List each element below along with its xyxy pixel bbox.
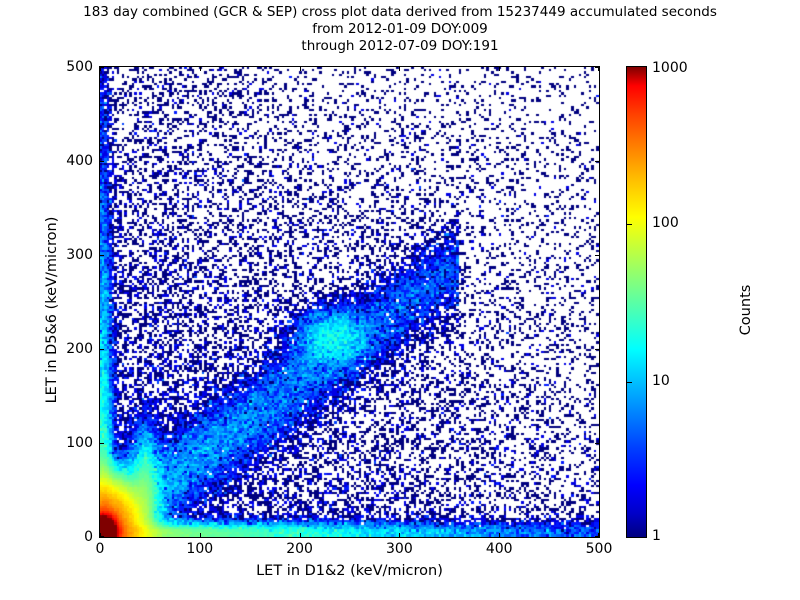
y-tick-mark: [100, 349, 104, 350]
figure-canvas: 183 day combined (GCR & SEP) cross plot …: [0, 0, 800, 600]
plot-axes: [99, 66, 600, 538]
y-tick-mark: [100, 536, 104, 537]
x-tick-mark: [200, 533, 201, 537]
y-tick-label: 0: [47, 529, 93, 545]
title-line-2: from 2012-01-09 DOY:009: [0, 21, 800, 38]
density-scatter-plot: [100, 67, 599, 537]
x-tick-label: 100: [186, 541, 213, 557]
y-axis-label: LET in D5&6 (keV/micron): [44, 110, 60, 510]
colorbar-tick-mark: [627, 224, 632, 225]
x-tick-mark: [300, 67, 301, 71]
colorbar-tick-mark: [627, 382, 632, 383]
plot-title: 183 day combined (GCR & SEP) cross plot …: [0, 4, 800, 55]
title-line-1: 183 day combined (GCR & SEP) cross plot …: [0, 4, 800, 21]
y-tick-mark: [100, 161, 104, 162]
x-tick-mark: [399, 67, 400, 71]
x-tick-mark: [399, 533, 400, 537]
x-tick-mark: [499, 533, 500, 537]
y-tick-mark: [595, 161, 599, 162]
colorbar-tick-label: 100: [652, 215, 679, 231]
y-tick-mark: [595, 67, 599, 68]
colorbar-tick-label: 1000: [652, 60, 688, 76]
y-tick-mark: [100, 443, 104, 444]
x-tick-label: 500: [586, 541, 613, 557]
y-tick-mark: [595, 536, 599, 537]
y-tick-mark: [595, 443, 599, 444]
x-axis-label: LET in D1&2 (keV/micron): [99, 563, 600, 579]
x-tick-label: 0: [96, 541, 105, 557]
y-tick-mark: [100, 67, 104, 68]
x-tick-mark: [300, 533, 301, 537]
y-tick-mark: [595, 349, 599, 350]
y-tick-mark: [595, 255, 599, 256]
title-line-3: through 2012-07-09 DOY:191: [0, 38, 800, 55]
x-tick-label: 400: [486, 541, 513, 557]
x-tick-label: 300: [386, 541, 413, 557]
colorbar-tick-label: 1: [652, 528, 661, 544]
x-tick-mark: [200, 67, 201, 71]
colorbar: [626, 66, 647, 538]
y-tick-label: 500: [47, 59, 93, 75]
colorbar-label: Counts: [738, 160, 754, 460]
colorbar-tick-label: 10: [652, 373, 670, 389]
y-tick-mark: [100, 255, 104, 256]
x-tick-mark: [499, 67, 500, 71]
x-tick-label: 200: [286, 541, 313, 557]
